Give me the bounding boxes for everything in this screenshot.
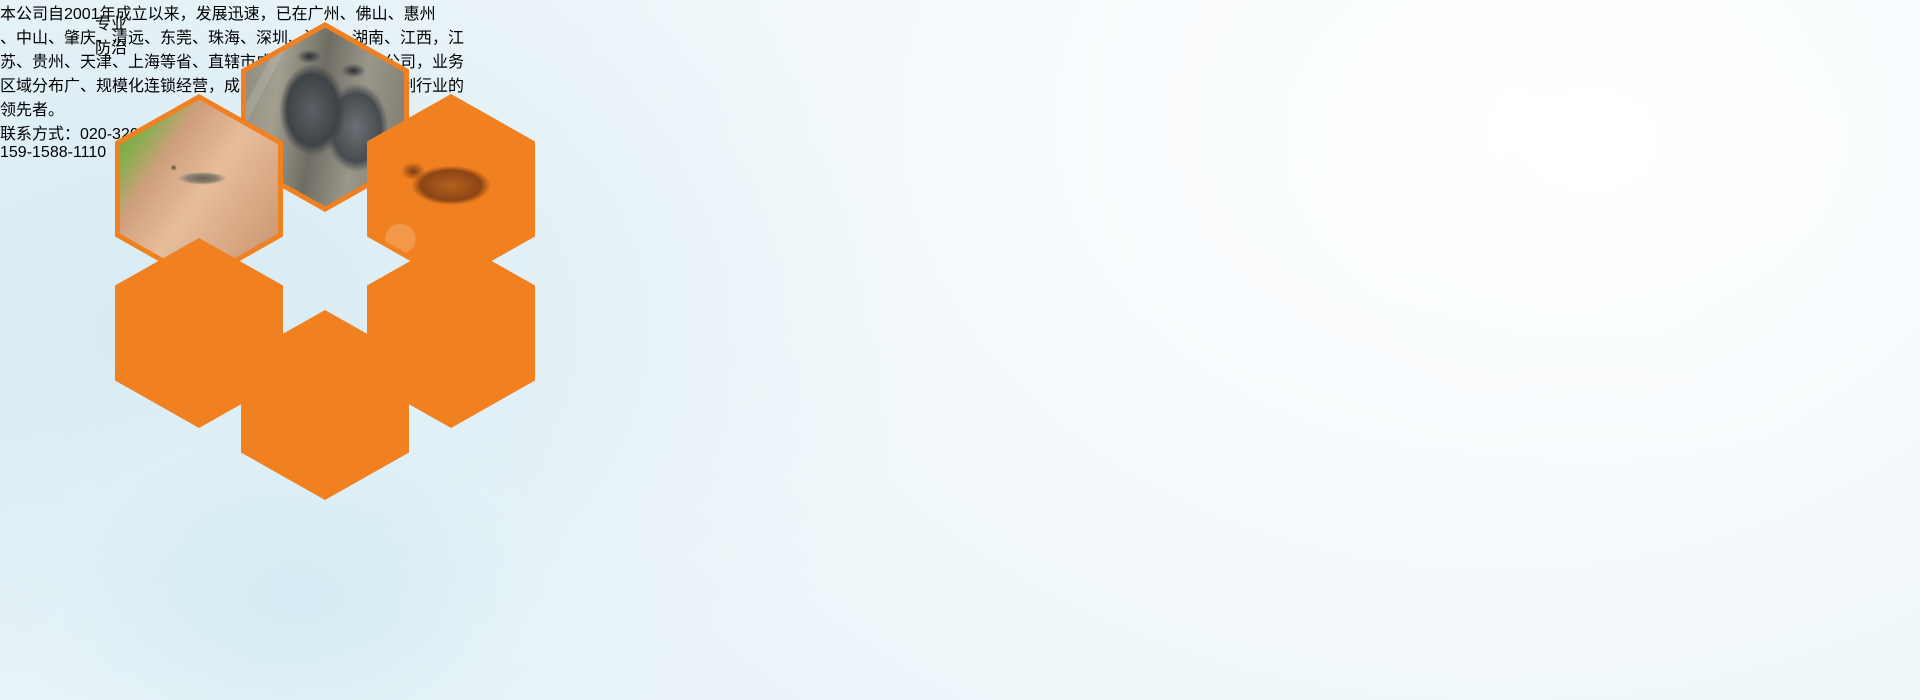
promo-banner: 专业 防治 本公司自2001年成立以来，发展迅速，已在广州、佛山、惠州 、中山、… (0, 0, 1920, 700)
hex-cell-ant-image (246, 316, 404, 495)
hexagon-photo-cluster: 专业 防治 (95, 10, 595, 570)
slogan-line-1: 专业 (95, 10, 595, 34)
